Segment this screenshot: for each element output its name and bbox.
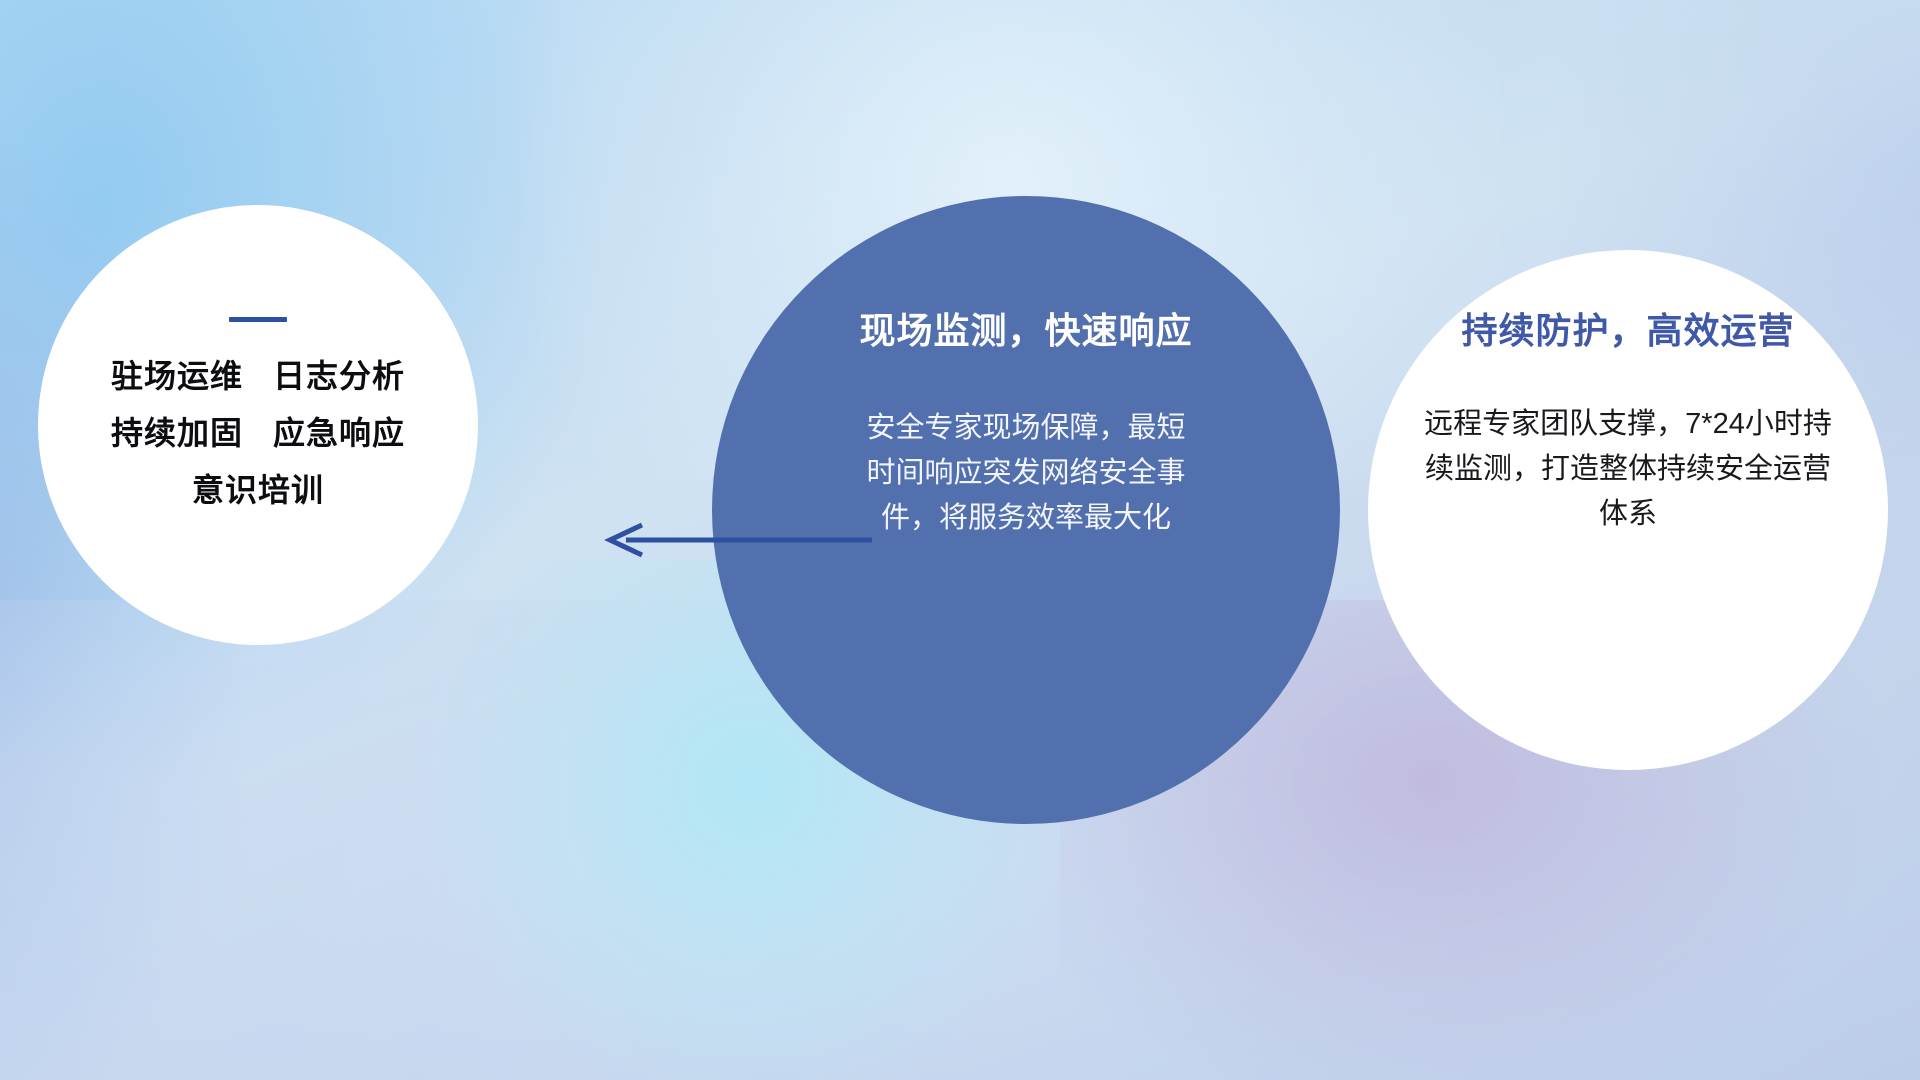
capability-tag-list: 驻场运维 日志分析 持续加固 应急响应 意识培训	[38, 358, 478, 508]
onsite-monitoring-body: 安全专家现场保障，最短时间响应突发网络安全事件，将服务效率最大化	[861, 406, 1191, 542]
continuous-protection-circle: 持续防护，高效运营 远程专家团队支撑，7*24小时持续监测，打造整体持续安全运营…	[1368, 250, 1888, 770]
capability-tag-row: 意识培训	[192, 472, 324, 509]
slide-canvas: 驻场运维 日志分析 持续加固 应急响应 意识培训 现场监测，快速响应 安全专家现…	[0, 0, 1920, 1080]
horizontal-dash-icon	[229, 317, 287, 322]
capability-tag-row: 持续加固 应急响应	[111, 415, 405, 452]
capability-tag: 意识培训	[192, 472, 324, 509]
onsite-monitoring-circle: 现场监测，快速响应 安全专家现场保障，最短时间响应突发网络安全事件，将服务效率最…	[712, 196, 1340, 824]
continuous-protection-title: 持续防护，高效运营	[1461, 302, 1794, 354]
flow-arrow	[600, 516, 880, 564]
onsite-monitoring-title: 现场监测，快速响应	[859, 302, 1192, 354]
capability-tag: 应急响应	[273, 415, 405, 452]
continuous-protection-body: 远程专家团队支撑，7*24小时持续监测，打造整体持续安全运营体系	[1418, 402, 1838, 538]
arrow-left-icon	[600, 516, 880, 564]
capability-tag-row: 驻场运维 日志分析	[111, 358, 405, 395]
capability-tag: 日志分析	[273, 358, 405, 395]
left-capability-circle: 驻场运维 日志分析 持续加固 应急响应 意识培训	[38, 205, 478, 645]
capability-tag: 驻场运维	[111, 358, 243, 395]
capability-tag: 持续加固	[111, 415, 243, 452]
